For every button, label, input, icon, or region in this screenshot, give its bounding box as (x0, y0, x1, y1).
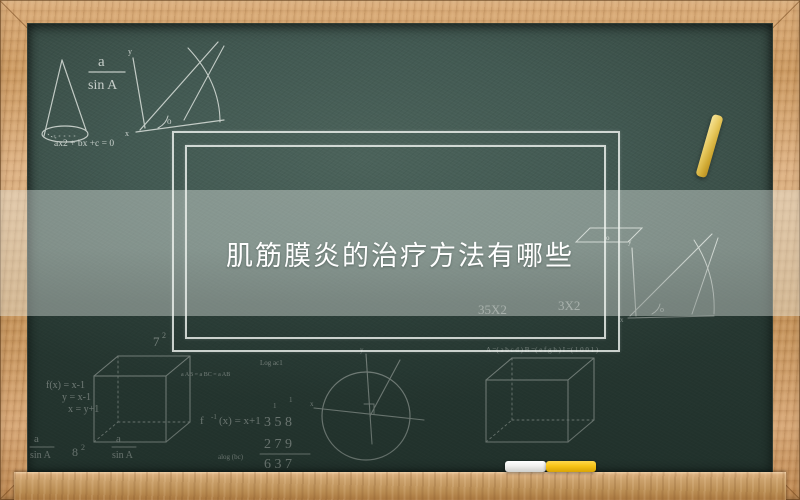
title-card-image: a sin A ax2 + bx +c = 0 y x o y (0, 0, 800, 500)
page-title: 肌筋膜炎的治疗方法有哪些 (226, 234, 574, 273)
ledge-wood-grain (14, 472, 786, 500)
chalk-tray-ledge (14, 472, 786, 500)
title-band: 肌筋膜炎的治疗方法有哪些 (0, 190, 800, 316)
yellow-chalk-piece (546, 461, 596, 472)
white-chalk-piece (505, 461, 546, 472)
